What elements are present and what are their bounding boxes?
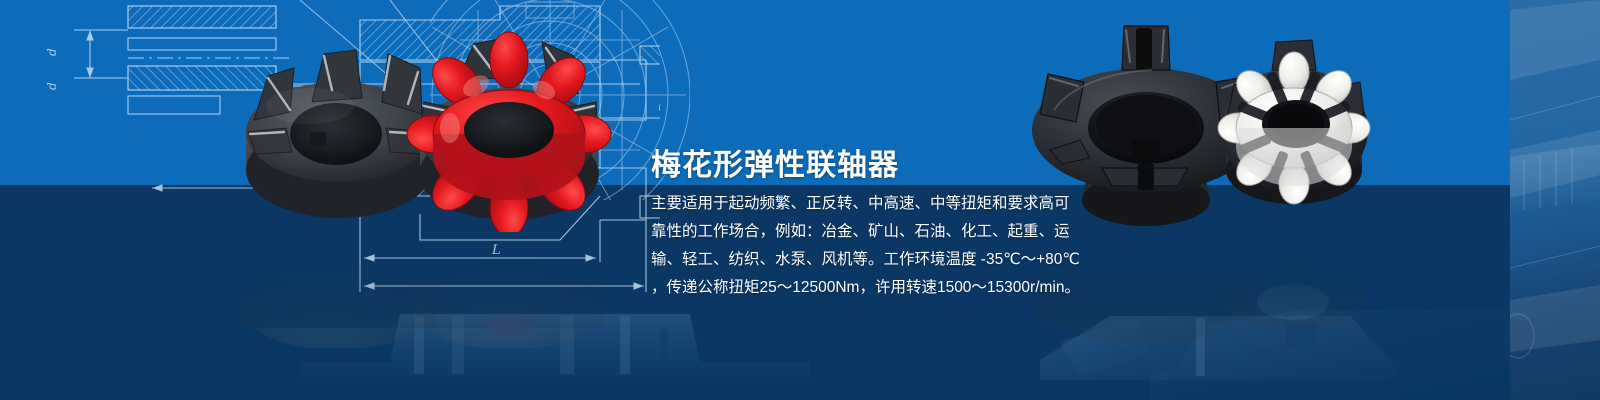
product-description: 主要适用于起动频繁、正反转、中高速、中等扭矩和要求高可 靠性的工作场合，例如：冶… (651, 190, 1071, 302)
description-line-2: 靠性的工作场合，例如：冶金、矿山、石油、化工、起重、运 (651, 218, 1071, 246)
product-jaw-coupling-with-red-spider (406, 16, 612, 232)
product-banner: L L L d d D D (0, 0, 1600, 400)
background-band-dark-notch (0, 236, 90, 400)
description-line-4: ，传递公称扭矩25～12500Nm，许用转速1500～15300r/min。 (651, 274, 1071, 302)
description-line-1: 主要适用于起动频繁、正反转、中高速、中等扭矩和要求高可 (651, 190, 1071, 218)
right-photo-panel (1510, 0, 1600, 400)
page-title: 梅花形弹性联轴器 (651, 140, 899, 184)
right-panel-machine-icon (1510, 0, 1600, 400)
description-line-3: 输、轻工、纺织、水泵、风机等。工作环境温度 -35℃～+80℃ (651, 246, 1071, 274)
product-jaw-coupling-with-white-spider (1212, 26, 1376, 226)
background-band-light-right (1470, 0, 1510, 185)
